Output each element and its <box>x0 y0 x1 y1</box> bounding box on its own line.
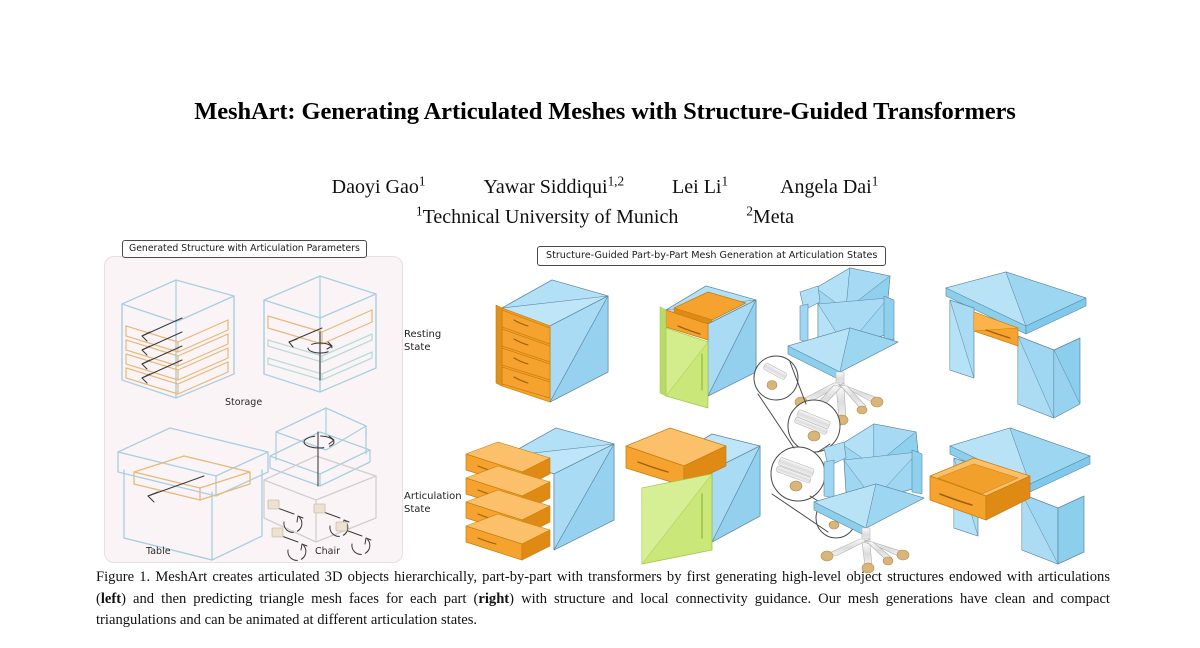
mesh-generation-panel-title: Structure-Guided Part-by-Part Mesh Gener… <box>537 246 886 266</box>
author-1: Daoyi Gao1 <box>332 176 426 199</box>
author-3-affil-marker: 1 <box>721 173 728 188</box>
mesh-chair-articulated <box>814 424 924 573</box>
affiliation-1-marker: 1 <box>416 203 423 218</box>
structure-wireframes <box>104 256 424 571</box>
mesh-storage-drawers-resting <box>496 280 608 402</box>
generated-mesh-gallery <box>426 250 1116 565</box>
arxiv-stamp: cs.CV] 8 Jun 2025 <box>0 0 62 648</box>
author-4-affil-marker: 1 <box>872 173 879 188</box>
author-3: Lei Li1 <box>672 176 728 199</box>
structure-label-storage: Storage <box>225 397 262 408</box>
chair-seat-back <box>270 408 370 486</box>
mesh-desk-resting <box>946 272 1086 418</box>
caption-bold-left: left <box>101 591 121 607</box>
mesh-desk-articulated <box>930 428 1090 564</box>
page-title: MeshArt: Generating Articulated Meshes w… <box>96 98 1114 126</box>
author-1-affil-marker: 1 <box>419 173 426 188</box>
caption-part-2: ) and then predicting triangle mesh face… <box>121 591 478 607</box>
structure-label-table: Table <box>146 546 171 557</box>
mesh-storage-door-articulated <box>626 428 760 564</box>
mesh-storage-door-resting <box>660 286 756 408</box>
author-2: Yawar Siddiqui1,2 <box>483 176 624 199</box>
affiliation-1: 1Technical University of Munich <box>416 206 678 229</box>
structure-label-chair: Chair <box>315 546 340 557</box>
caption-bold-right: right <box>478 591 509 607</box>
affiliation-2: 2Meta <box>746 206 794 229</box>
table-drawer <box>134 456 250 500</box>
affiliations-row: 1Technical University of Munich 2Meta <box>96 206 1114 229</box>
affiliation-2-marker: 2 <box>746 203 753 218</box>
caption-prefix: Figure 1. <box>96 569 150 585</box>
figure-caption: Figure 1. MeshArt creates articulated 3D… <box>96 567 1110 632</box>
figure-1: Generated Structure with Articulation Pa… <box>96 250 1114 565</box>
table-box <box>118 428 268 560</box>
paper-page-column: MeshArt: Generating Articulated Meshes w… <box>96 0 1114 648</box>
author-4: Angela Dai1 <box>780 176 878 199</box>
author-2-affil-marker: 1,2 <box>608 173 624 188</box>
generated-structure-panel-title: Generated Structure with Articulation Pa… <box>122 240 367 258</box>
mesh-storage-drawers-articulated <box>466 428 614 560</box>
authors-row: Daoyi Gao1 Yawar Siddiqui1,2 Lei Li1 Ang… <box>96 176 1114 199</box>
